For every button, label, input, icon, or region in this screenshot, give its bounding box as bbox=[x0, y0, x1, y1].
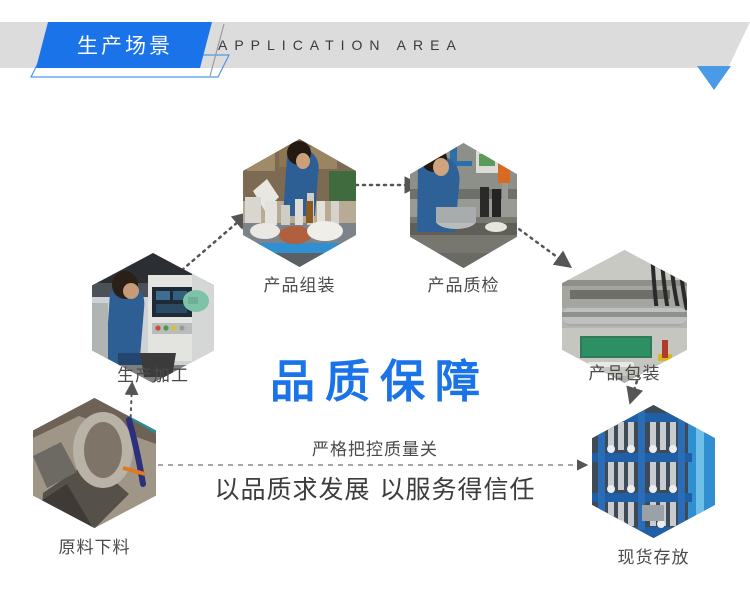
triangle-down-icon bbox=[697, 66, 731, 90]
center-title: 品质保障 bbox=[0, 345, 750, 410]
header-tab[interactable]: 生产场景 bbox=[36, 22, 212, 68]
hex-label-storage: 现货存放 bbox=[592, 543, 715, 568]
connector-processing-to-assembly bbox=[182, 215, 246, 270]
center-subtitle-1: 严格把控质量关 bbox=[0, 435, 750, 460]
header-subtitle: APPLICATION AREA bbox=[218, 22, 463, 68]
hex-label-assembly: 产品组装 bbox=[243, 271, 356, 296]
hex-label-raw-material: 原料下料 bbox=[33, 533, 156, 558]
header-tab-label: 生产场景 bbox=[75, 30, 173, 60]
connector-inspection-to-packaging bbox=[508, 221, 568, 265]
process-flow-diagram: 原料下料 生产加工 bbox=[0, 95, 750, 600]
page-header: 生产场景 APPLICATION AREA bbox=[0, 0, 750, 95]
hex-label-inspection: 产品质检 bbox=[410, 271, 517, 296]
center-subtitle-2: 以品质求发展 以服务得信任 bbox=[0, 470, 750, 506]
